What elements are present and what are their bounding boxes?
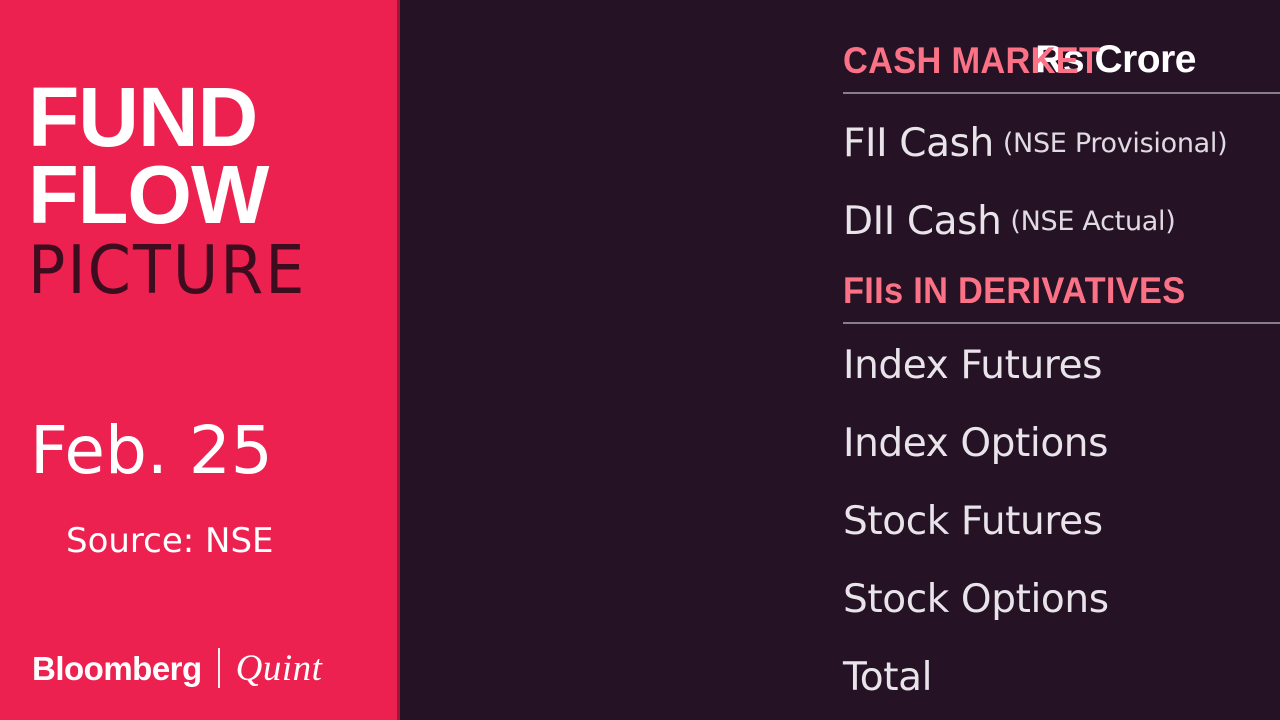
- row-label: Index Futures: [843, 346, 1102, 385]
- row-label: Total: [843, 658, 932, 697]
- table-row: DII Cash (NSE Actual) 1,565: [843, 182, 1280, 260]
- row-label: Stock Futures: [843, 502, 1103, 541]
- fund-flow-infographic: FUND FLOW PICTURE Feb. 25 Source: NSE Bl…: [0, 0, 1280, 720]
- brand-title-subline: PICTURE: [28, 237, 380, 304]
- rows-fiis-in-derivatives: Index Futures 1,470 Index Options 1,307 …: [843, 326, 1280, 716]
- row-label: Stock Options: [843, 580, 1109, 619]
- table-row: Total 1,340: [843, 638, 1280, 716]
- logo-quint-wordmark: Quint: [236, 650, 323, 687]
- row-note: (NSE Provisional): [1003, 130, 1228, 157]
- row-label: Index Options: [843, 424, 1108, 463]
- brand-title: FUND FLOW PICTURE: [28, 78, 380, 299]
- table-row: Index Futures 1,470: [843, 326, 1280, 404]
- row-label: FII Cash: [843, 124, 994, 163]
- bloomberg-quint-logo: Bloomberg Quint: [32, 646, 322, 690]
- brand-title-line2: FLOW: [28, 156, 380, 233]
- brand-title-line1: FUND: [28, 78, 380, 156]
- table-row: Index Options 1,307: [843, 404, 1280, 482]
- table-row: Stock Options 51: [843, 560, 1280, 638]
- section-rule-cash-market: [843, 92, 1280, 94]
- table-row: FII Cash (NSE Provisional) 2,315: [843, 104, 1280, 182]
- data-panel: Rs Crore CASH MARKET FII Cash (NSE Provi…: [400, 0, 1280, 720]
- section-header-fiis-in-derivatives: FIIs IN DERIVATIVES: [843, 272, 1280, 324]
- data-source-label: Source: NSE: [66, 524, 274, 558]
- section-title-cash-market: CASH MARKET: [843, 42, 1280, 79]
- logo-divider: [218, 648, 220, 688]
- row-label: DII Cash: [843, 202, 1001, 241]
- section-header-cash-market: CASH MARKET: [843, 42, 1280, 94]
- table-row: Stock Futures 1,553: [843, 482, 1280, 560]
- section-rule-fiis-in-derivatives: [843, 322, 1280, 324]
- rows-cash-market: FII Cash (NSE Provisional) 2,315 DII Cas…: [843, 104, 1280, 260]
- brand-panel: FUND FLOW PICTURE Feb. 25 Source: NSE Bl…: [0, 0, 400, 720]
- logo-bloomberg-wordmark: Bloomberg: [32, 652, 202, 685]
- report-date: Feb. 25: [30, 418, 273, 484]
- section-title-fiis-in-derivatives: FIIs IN DERIVATIVES: [843, 272, 1280, 309]
- row-note: (NSE Actual): [1010, 208, 1175, 235]
